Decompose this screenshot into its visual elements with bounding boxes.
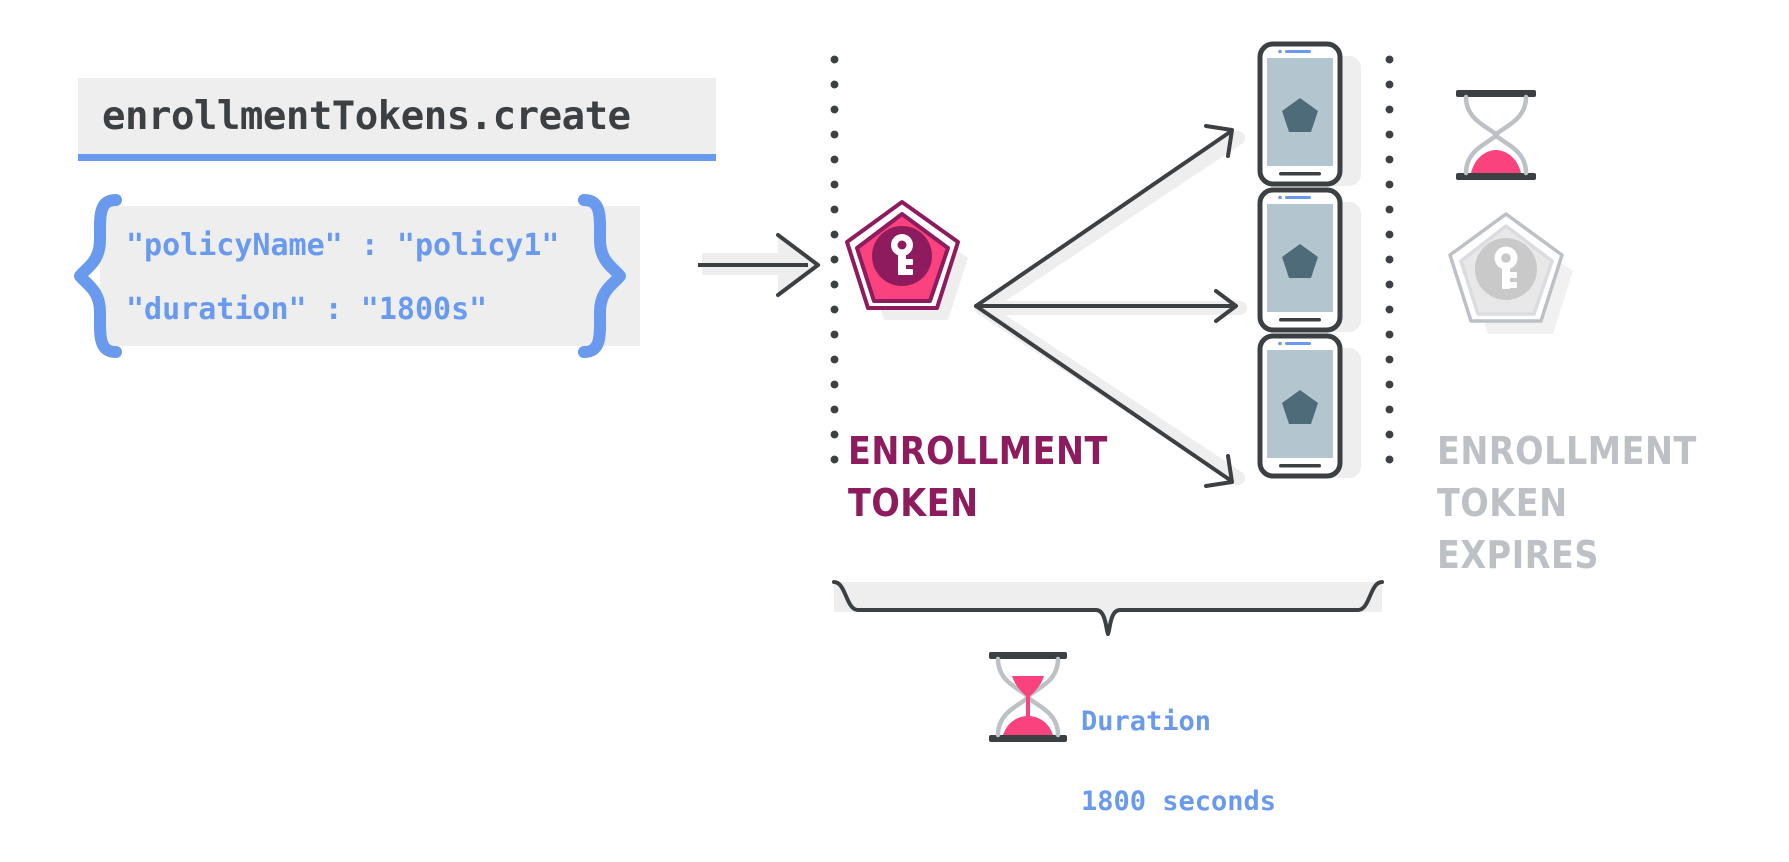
json-line-duration: "duration" : "1800s": [126, 292, 487, 327]
api-header-underline: [78, 154, 716, 161]
duration-hourglass-icon: [985, 650, 1073, 746]
device-2: [1255, 188, 1365, 338]
enrollment-token-expires-label: ENROLLMENT TOKEN EXPIRES: [1437, 425, 1697, 581]
api-method-label: enrollmentTokens.create: [78, 78, 716, 154]
device-3: [1255, 334, 1365, 484]
enrollment-token-label: ENROLLMENT TOKEN: [848, 425, 1108, 529]
token-distribution-arrows: [940, 80, 1270, 480]
expiry-hourglass-icon: [1452, 88, 1544, 184]
expired-token-icon: [1440, 204, 1580, 349]
dotted-separator-left: [830, 55, 839, 470]
json-line-policy-name: "policyName" : "policy1": [126, 228, 559, 263]
diagram-canvas: enrollmentTokens.create "policyName" : "…: [0, 0, 1789, 795]
request-arrow: [690, 215, 850, 325]
duration-span-brace: [828, 578, 1388, 638]
duration-caption: Duration 1800 seconds: [1081, 662, 1276, 862]
close-brace-icon: [568, 196, 628, 356]
enrollment-token-icon: [840, 196, 975, 331]
device-1: [1255, 42, 1365, 192]
request-body-block: "policyName" : "policy1" "duration" : "1…: [78, 200, 678, 350]
api-method-header: enrollmentTokens.create: [78, 78, 716, 161]
dotted-separator-right: [1385, 55, 1394, 470]
request-body-json: "policyName" : "policy1" "duration" : "1…: [126, 214, 559, 342]
hourglass-sand-bottom: [1471, 150, 1521, 173]
duration-caption-title: Duration: [1081, 702, 1276, 742]
hourglass-sand-bottom: [1003, 716, 1053, 735]
open-brace-icon: [72, 196, 132, 356]
duration-caption-value: 1800 seconds: [1081, 782, 1276, 822]
